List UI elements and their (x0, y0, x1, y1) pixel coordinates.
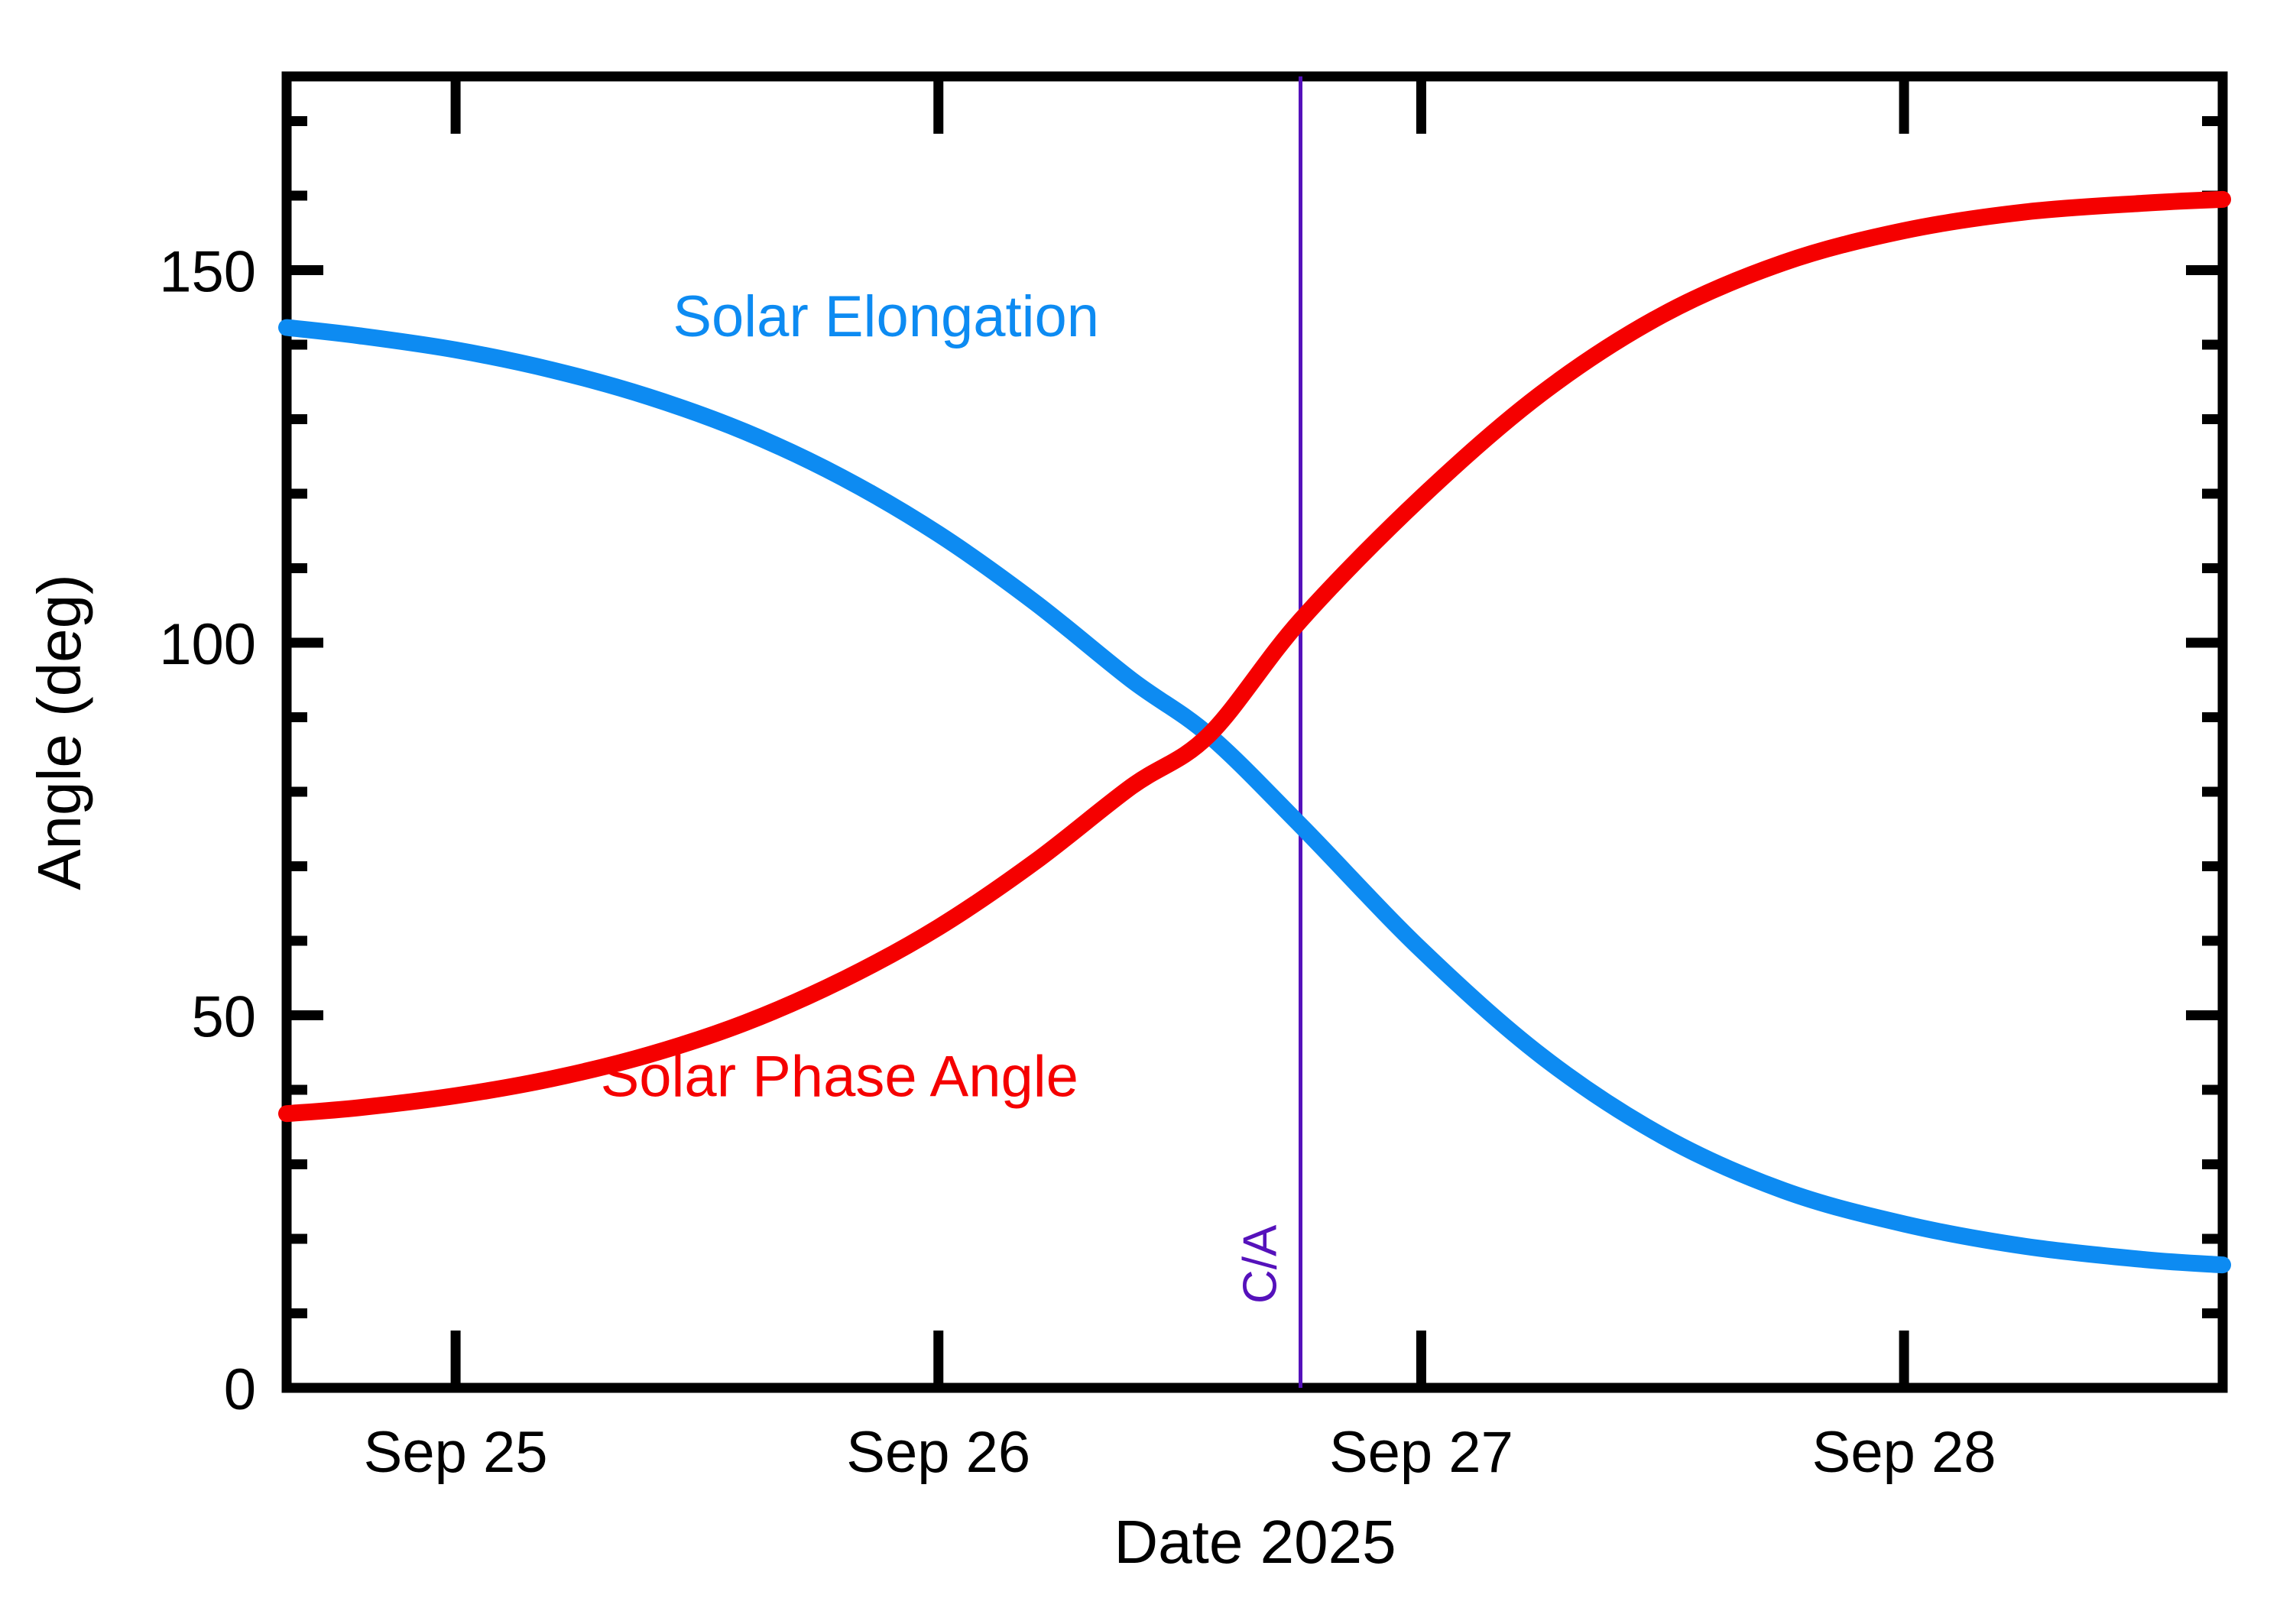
y-tick-label: 150 (159, 240, 256, 305)
data-series (287, 199, 2223, 1265)
event-markers: C/A (1234, 76, 1301, 1388)
marker-label-ca: C/A (1234, 1224, 1287, 1304)
x-axis-tick-labels: Sep 25Sep 26Sep 27Sep 28 (364, 1420, 1996, 1485)
chart-figure: 050100150 Sep 25Sep 26Sep 27Sep 28 C/A S… (0, 0, 2293, 1624)
y-axis-ticks (287, 122, 2223, 1389)
axis-frame (287, 76, 2223, 1388)
x-tick-label: Sep 28 (1812, 1420, 1996, 1485)
chart-plot-area: 050100150 Sep 25Sep 26Sep 27Sep 28 C/A S… (0, 0, 2293, 1624)
plot-frame (287, 76, 2223, 1388)
y-tick-label: 50 (191, 985, 256, 1050)
x-tick-label: Sep 27 (1329, 1420, 1513, 1485)
y-axis-tick-labels: 050100150 (159, 240, 256, 1423)
x-tick-label: Sep 25 (364, 1420, 548, 1485)
series-label-solar-elongation: Solar Elongation (673, 284, 1099, 349)
series-line-solar-phase-angle (287, 199, 2223, 1113)
y-tick-label: 0 (224, 1357, 256, 1422)
y-tick-label: 100 (159, 612, 256, 677)
x-axis-ticks (456, 76, 1904, 1388)
y-axis-title: Angle (deg) (25, 574, 93, 890)
series-line-solar-elongation (287, 328, 2223, 1266)
x-tick-label: Sep 26 (846, 1420, 1030, 1485)
series-label-solar-phase-angle: Solar Phase Angle (601, 1045, 1078, 1110)
x-axis-title: Date 2025 (1114, 1508, 1396, 1576)
